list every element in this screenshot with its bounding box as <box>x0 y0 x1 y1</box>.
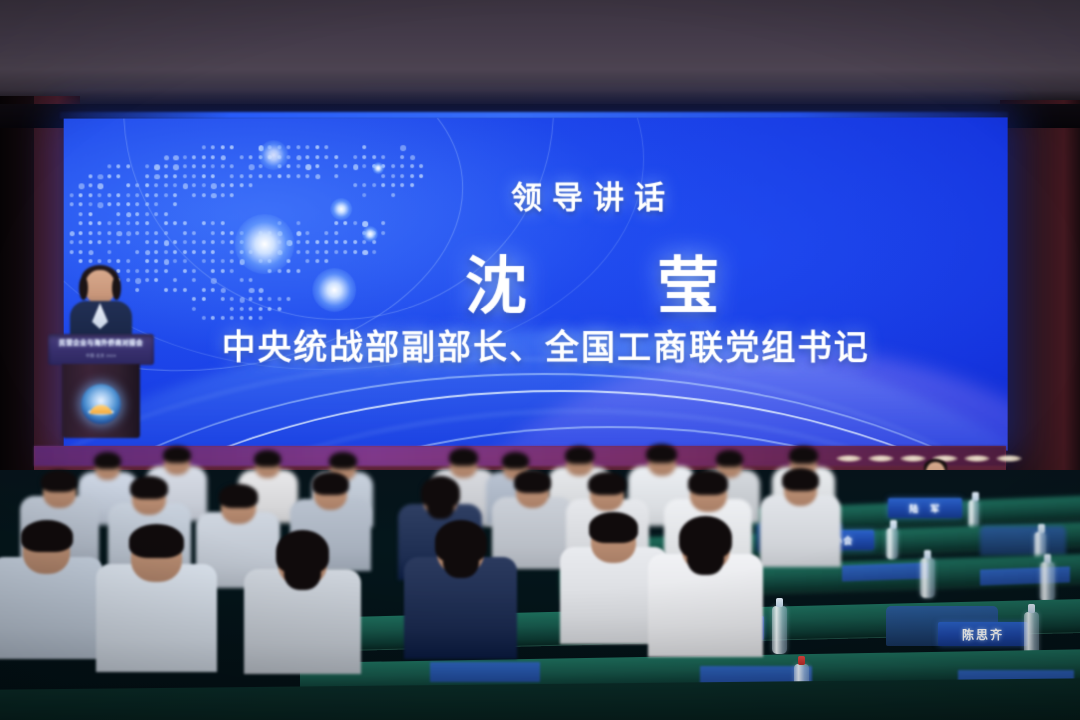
desk-paper <box>430 662 540 682</box>
podium: 民营企业与海外侨商对接会 中国·北京 2024 <box>48 334 154 438</box>
desk-paper <box>842 562 928 581</box>
podium-banner-subtitle: 中国·北京 2024 <box>54 352 148 360</box>
conference-photo-scene: 领导讲话 沈 莹 中央统战部副部长、全国工商联党组书记 民营企业与海外侨商对接会… <box>0 0 1080 720</box>
screen-speaker-name: 沈 莹 <box>64 236 1008 326</box>
ceiling <box>0 0 1080 112</box>
name-placard: 陆 军 <box>888 498 962 518</box>
front-desk-row <box>0 678 1080 720</box>
speaker-hair-right <box>112 276 121 300</box>
water-bottle <box>886 528 898 560</box>
podium-top-panel: 民营企业与海外侨商对接会 中国·北京 2024 <box>48 334 154 365</box>
screen-speaker-title: 中央统战部副部长、全国工商联党组书记 <box>64 320 1008 369</box>
screen-text-block: 领导讲话 沈 莹 中央统战部副部长、全国工商联党组书记 <box>64 117 1008 450</box>
stage-footlight <box>964 455 990 462</box>
water-bottle <box>772 606 787 654</box>
speaker-head <box>85 270 115 304</box>
speaker-hair-left <box>79 276 88 300</box>
screen-kicker-label: 领导讲话 <box>64 172 1008 218</box>
water-bottle <box>1040 562 1055 602</box>
stage-footlight <box>836 455 862 462</box>
institution-emblem-icon <box>81 384 121 424</box>
led-stage-screen: 领导讲话 沈 莹 中央统战部副部长、全国工商联党组书记 <box>64 117 1008 450</box>
stage-footlight <box>900 455 926 462</box>
name-placard: 陈思齐 <box>938 622 1028 646</box>
desk-paper <box>980 566 1070 585</box>
podium-banner-title: 民营企业与海外侨商对接会 <box>54 338 148 350</box>
stage-footlight <box>996 455 1022 462</box>
seat-back <box>980 526 1066 556</box>
stage-footlight <box>868 455 894 462</box>
water-bottle <box>920 558 935 598</box>
